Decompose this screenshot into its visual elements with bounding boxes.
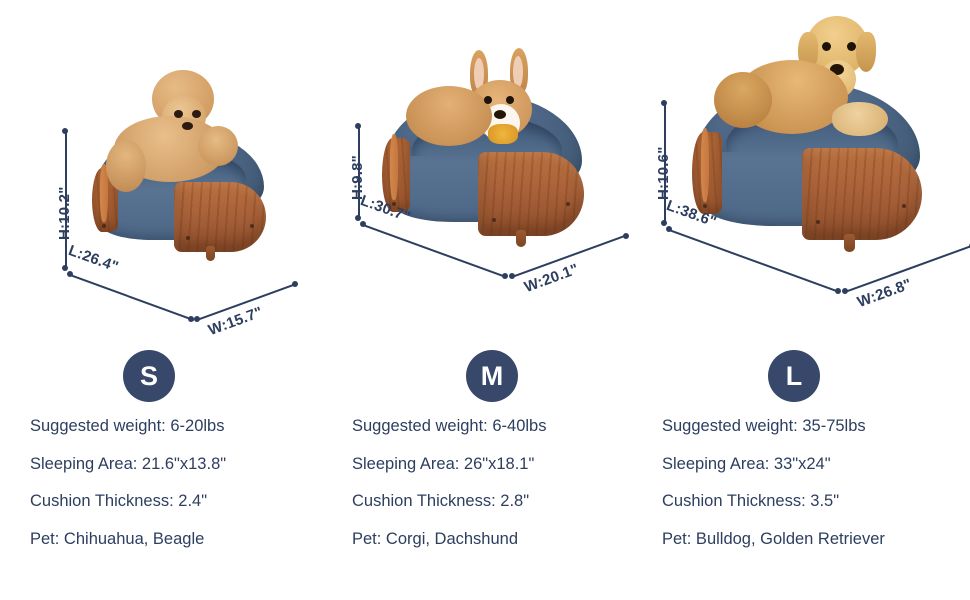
bed-stud [703, 204, 707, 208]
bed-stud [186, 236, 190, 240]
dimension-endpoint [355, 123, 361, 129]
bed-leg [844, 234, 855, 252]
bed-wood-edge [390, 134, 398, 200]
bed-stud [902, 204, 906, 208]
dog-poodle [100, 70, 250, 196]
dimension-label-height: H:10.6" [655, 146, 672, 200]
bed-illustration-medium [368, 90, 600, 275]
size-badge-medium: M [466, 350, 518, 402]
spec-list-large: Suggested weight: 35-75lbs Sleeping Area… [662, 418, 970, 547]
dimension-endpoint [502, 273, 508, 279]
spec-pet-breeds: Pet: Bulldog, Golden Retriever [662, 531, 970, 548]
spec-cushion-thickness: Cushion Thickness: 2.4" [30, 493, 330, 510]
dimension-label-width: W:26.8" [855, 276, 914, 311]
spec-sleeping-area: Sleeping Area: 21.6"x13.8" [30, 456, 330, 473]
bed-stud [250, 224, 254, 228]
spec-cushion-thickness: Cushion Thickness: 2.8" [352, 493, 652, 510]
bed-stud [102, 224, 106, 228]
bed-leg [516, 230, 526, 247]
dimension-endpoint [661, 100, 667, 106]
bed-leg [206, 246, 215, 261]
dog-golden-retriever [702, 16, 902, 186]
dimension-endpoint [360, 221, 366, 227]
spec-pet-breeds: Pet: Corgi, Dachshund [352, 531, 652, 548]
spec-cushion-thickness: Cushion Thickness: 3.5" [662, 493, 970, 510]
dimension-label-width: W:15.7" [206, 304, 265, 339]
dimension-endpoint [355, 215, 361, 221]
spec-sleeping-area: Sleeping Area: 33"x24" [662, 456, 970, 473]
dimension-endpoint [835, 288, 841, 294]
dog-corgi [402, 52, 562, 182]
product-panel-large: H:10.6" L:38.6" W:26.8" L [640, 0, 970, 320]
dimension-endpoint [666, 226, 672, 232]
dimension-endpoint [509, 273, 515, 279]
dimension-endpoint [842, 288, 848, 294]
spec-suggested-weight: Suggested weight: 6-40lbs [352, 418, 652, 435]
bed-stud [566, 202, 570, 206]
size-badge-large: L [768, 350, 820, 402]
product-panel-small: H:10.2" L:26.4" W:15.7" S [0, 0, 320, 320]
size-badge-small: S [123, 350, 175, 402]
bed-stud [816, 220, 820, 224]
dimension-endpoint [62, 265, 68, 271]
spec-suggested-weight: Suggested weight: 6-20lbs [30, 418, 330, 435]
dimension-endpoint [623, 233, 629, 239]
product-panel-medium: H:9.8" L:30.7" W:20.1" M [320, 0, 640, 320]
dimension-endpoint [194, 316, 200, 322]
dimension-endpoint [292, 281, 298, 287]
pet-bed-size-infographic: H:10.2" L:26.4" W:15.7" S [0, 0, 970, 600]
spec-suggested-weight: Suggested weight: 35-75lbs [662, 418, 970, 435]
spec-sleeping-area: Sleeping Area: 26"x18.1" [352, 456, 652, 473]
bed-stud [492, 218, 496, 222]
dimension-endpoint [661, 220, 667, 226]
spec-list-small: Suggested weight: 6-20lbs Sleeping Area:… [30, 418, 330, 547]
dimension-endpoint [62, 128, 68, 134]
dimension-line-length [70, 274, 195, 321]
spec-pet-breeds: Pet: Chihuahua, Beagle [30, 531, 330, 548]
dimension-label-height: H:10.2" [56, 186, 73, 240]
dimension-endpoint [67, 271, 73, 277]
spec-list-medium: Suggested weight: 6-40lbs Sleeping Area:… [352, 418, 652, 547]
